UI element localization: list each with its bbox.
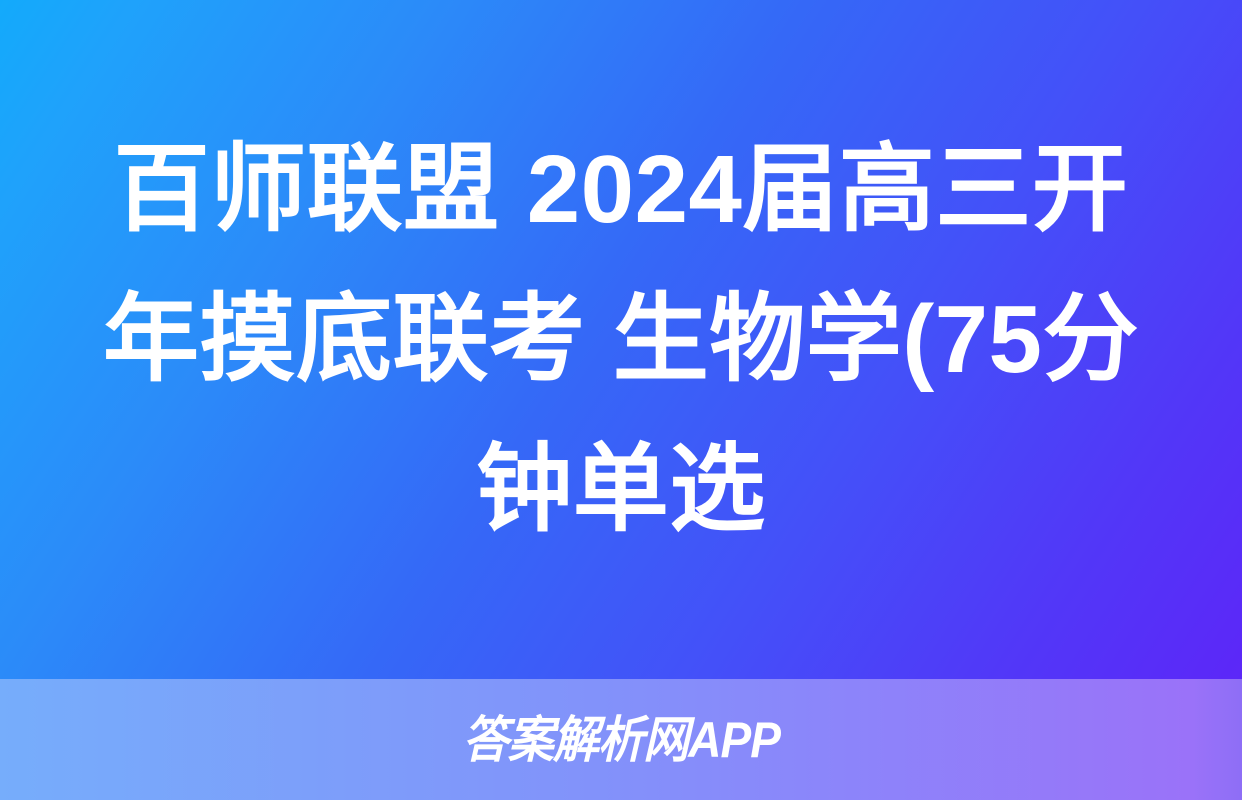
watermark-app-label: 答案解析网APP (462, 715, 779, 765)
hero-gradient-panel: 百师联盟 2024届高三开年摸底联考 生物学(75分钟单选 (0, 0, 1242, 679)
watermark-banner: 答案解析网APP (0, 679, 1242, 800)
page-title: 百师联盟 2024届高三开年摸底联考 生物学(75分钟单选 (70, 115, 1172, 565)
poster-canvas: 百师联盟 2024届高三开年摸底联考 生物学(75分钟单选 答案解析网APP (0, 0, 1242, 800)
